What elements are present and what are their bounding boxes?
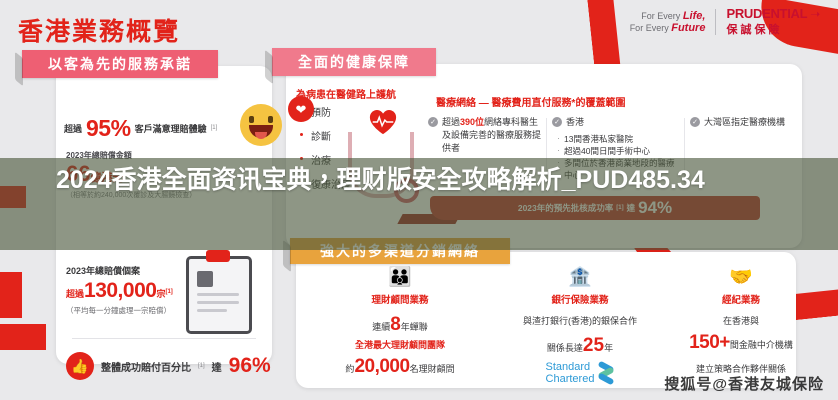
brand-lockup: For Every Life, For Every Future PRUDENT…: [630, 6, 820, 37]
brand-tagline: For Every Life, For Every Future: [630, 10, 706, 34]
claims-cases-value: 130,000: [84, 279, 156, 302]
banca-line2: 關係長達: [547, 343, 583, 353]
tagline-line2-em: Future: [671, 22, 705, 34]
satisfaction-suffix: 客戶滿意理賠體驗: [135, 122, 207, 135]
patient-journey-title: 為病患在醫健路上護航: [296, 86, 396, 101]
sc-name-line2: Chartered: [546, 373, 595, 385]
tagline-line1-em: Life,: [683, 10, 706, 22]
satisfaction-prefix: 超過: [64, 122, 82, 135]
advisory-line2: 全港最大理財顧問團隊: [316, 338, 484, 351]
clipboard-portrait: [197, 271, 213, 287]
prudential-logo-en: PRUDENTIAL: [726, 6, 807, 21]
satisfaction-footnote: [1]: [211, 125, 218, 131]
watermark: 搜狐号@香港友城保险: [664, 373, 824, 394]
clipboard-line-1: [197, 293, 239, 296]
check-icon-1: ✓: [552, 117, 562, 127]
clipboard-clip: [206, 250, 230, 262]
advisory-line3-num: 20,000: [354, 356, 409, 377]
network-sub-1-0: 13間香港私家醫院: [556, 133, 682, 145]
advisory-line1-pre: 連續: [372, 322, 390, 332]
tagline-line2-plain: For Every: [630, 23, 669, 33]
heart-icon: ❤: [288, 96, 314, 122]
page-title: 香港業務概覽: [18, 12, 180, 48]
distribution-column-advisory: 👪 理財顧問業務 連續8年蟬聯 全港最大理財顧問團隊 約20,000名理財顧問: [316, 266, 484, 378]
handshake-icon: 🤝: [666, 266, 816, 290]
heartbeat-icon: [368, 108, 398, 136]
banca-title: 銀行保險業務: [500, 292, 660, 306]
satisfaction-value: 95%: [86, 115, 131, 142]
advisory-title: 理財顧問業務: [316, 292, 484, 306]
sc-name-line1: Standard: [546, 361, 595, 373]
banca-line3-post: 年: [604, 343, 613, 353]
advisory-line1-num: 8: [390, 314, 401, 335]
brokerage-line3-post: 間金融中介機構: [730, 340, 793, 350]
red-tab-left-mid: [0, 272, 22, 318]
check-icon-2: ✓: [690, 117, 700, 127]
banca-line3-num: 25: [583, 335, 604, 356]
advisory-line3-post: 名理財顧問: [410, 364, 455, 374]
medical-network-title: 醫療網絡 — 醫療費用直付服務*的覆蓋範圍: [436, 94, 625, 109]
distribution-column-brokerage: 🤝 經紀業務 在香港與 150+間金融中介機構 建立策略合作夥伴關係: [666, 266, 816, 375]
clipboard-icon: [186, 256, 252, 334]
infographic-canvas: For Every Life, For Every Future PRUDENT…: [0, 0, 838, 400]
network-sub-1-1: 超過40間日間手術中心: [556, 145, 682, 157]
success-rate-label: 整體成功賠付百分比: [101, 359, 191, 374]
card-divider: [72, 338, 256, 339]
red-tab-left-lower: [0, 324, 46, 350]
prudential-logo: PRUDENTIAL➝ 保誠保險: [726, 6, 820, 37]
advisory-line1-post: 年蟬聯: [401, 322, 428, 332]
brand-divider: [715, 9, 716, 35]
success-rate-stat: 👍 整體成功賠付百分比 [1] 達 96%: [66, 352, 286, 380]
standard-chartered-logo: Standard Chartered: [500, 361, 660, 385]
prudential-logo-zh: 保誠保險: [726, 21, 782, 37]
smiley-face-icon: [240, 104, 282, 146]
tagline-line1-plain: For Every: [641, 11, 680, 21]
network-head-0: 超過390位網絡專科醫生及設備完善的醫療服務提供者: [442, 116, 544, 155]
brokerage-line3-num: 150+: [689, 332, 730, 353]
prudential-swirl-icon: ➝: [810, 7, 820, 21]
success-rate-connector: 達: [212, 359, 222, 374]
people-icon: 👪: [316, 266, 484, 290]
smiley-eye-left: [249, 116, 254, 123]
banca-line1: 與渣打銀行(香港)的銀保合作: [500, 314, 660, 327]
ribbon-health-protection: 全面的健康保障: [272, 48, 436, 76]
clipboard-line-3: [197, 309, 227, 312]
distribution-column-bancassurance: 🏦 銀行保險業務 與渣打銀行(香港)的銀保合作 關係長達25年 Standard…: [500, 266, 660, 385]
success-rate-footnote: [1]: [198, 363, 205, 369]
thumbs-up-icon: 👍: [66, 352, 94, 380]
overlay-headline: 2024香港全面资讯宝典，理财版安全攻略解析_PUD485.34: [0, 160, 838, 200]
bank-icon: 🏦: [500, 266, 660, 290]
clipboard-line-2: [197, 301, 239, 304]
check-icon-0: ✓: [428, 117, 438, 127]
network-head-2: 大灣區指定醫療機構: [704, 116, 785, 129]
network-head-1: 香港: [566, 116, 584, 129]
success-rate-value: 96%: [229, 354, 271, 378]
claims-cases-footnote: [1]: [165, 289, 172, 295]
claims-cases-prefix: 超過: [66, 289, 84, 299]
smiley-tongue: [255, 132, 267, 139]
brokerage-title: 經紀業務: [666, 292, 816, 306]
brokerage-line1: 在香港與: [666, 314, 816, 327]
ribbon-service-promise: 以客為先的服務承諾: [22, 50, 218, 78]
standard-chartered-mark-icon: [598, 363, 614, 383]
smiley-eye-right: [268, 116, 273, 123]
